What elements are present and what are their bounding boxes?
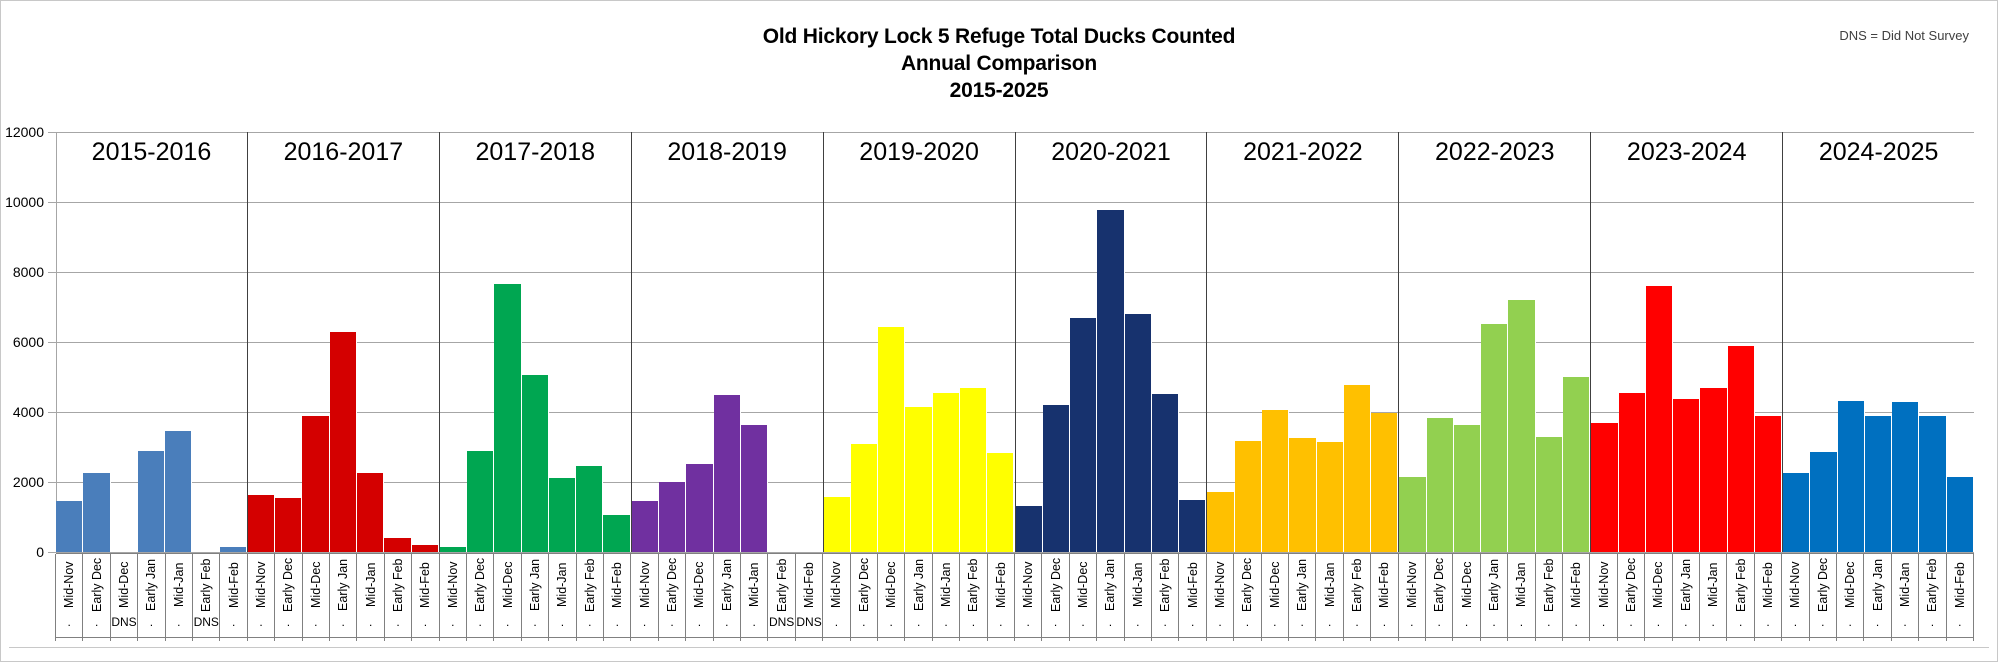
x-axis-period-label: Mid-Dec — [692, 557, 706, 613]
bar[interactable] — [1371, 413, 1398, 552]
bar-slot — [357, 132, 384, 552]
x-axis-category-cell: Mid-Jan. — [165, 554, 193, 641]
y-axis-tick — [48, 132, 56, 133]
bar[interactable] — [1646, 286, 1673, 552]
x-axis-season-group: Mid-Nov.Early Dec.Mid-DecDNSEarly Jan.Mi… — [56, 554, 248, 641]
y-axis-tick-label: 0 — [36, 544, 44, 560]
x-axis-category-cell: Mid-Dec. — [877, 554, 905, 641]
x-axis-survey-note: . — [823, 616, 849, 628]
bar-slot — [1646, 132, 1673, 552]
bar[interactable] — [522, 375, 549, 552]
season-bars — [1207, 132, 1398, 552]
x-axis-category-cell: Early Dec. — [1809, 554, 1837, 641]
bar[interactable] — [1399, 477, 1426, 552]
x-axis-period-label: Early Dec — [90, 557, 104, 613]
x-axis-survey-note: . — [714, 616, 740, 628]
x-axis-season-group: Mid-Nov.Early Dec.Mid-Dec.Early Jan.Mid-… — [631, 554, 823, 641]
bar[interactable] — [1865, 416, 1892, 553]
season-bars — [1399, 132, 1590, 552]
x-axis-season-group: Mid-Nov.Early Dec.Mid-Dec.Early Jan.Mid-… — [1782, 554, 1974, 641]
bar[interactable] — [1043, 405, 1070, 552]
bar-slot — [1427, 132, 1454, 552]
x-axis-survey-note: . — [494, 616, 520, 628]
x-axis-survey-note: . — [385, 616, 411, 628]
bar[interactable] — [1016, 506, 1043, 552]
x-axis-category-cell: Early Dec. — [1233, 554, 1261, 641]
bar[interactable] — [1289, 438, 1316, 552]
y-axis-tick — [48, 202, 56, 203]
bar[interactable] — [1481, 324, 1508, 552]
bar-slot — [1728, 132, 1755, 552]
bar-slot — [1673, 132, 1700, 552]
x-axis-category-cell: Mid-Nov. — [1589, 554, 1617, 641]
bar-slot — [905, 132, 932, 552]
bar[interactable] — [357, 473, 384, 552]
x-axis-season-group: Mid-Nov.Early Dec.Mid-Dec.Early Jan.Mid-… — [823, 554, 1015, 641]
x-axis-period-label: Mid-Feb — [1761, 557, 1775, 613]
x-axis-survey-note: . — [1590, 616, 1616, 628]
x-axis-period-label: Mid-Jan — [1131, 557, 1145, 613]
season-panel: 2024-2025 — [1783, 132, 1974, 552]
season-bars — [248, 132, 439, 552]
bar-slot — [1262, 132, 1289, 552]
x-axis-category-cell: Early Feb. — [1535, 554, 1563, 641]
x-axis-period-label: Early Dec — [1240, 557, 1254, 613]
x-axis-category-cell: Mid-Feb. — [1370, 554, 1398, 641]
bar[interactable] — [330, 332, 357, 553]
x-axis-survey-note: . — [1892, 616, 1918, 628]
bar-slot — [1454, 132, 1481, 552]
x-axis-survey-note: . — [851, 616, 877, 628]
bar[interactable] — [603, 515, 630, 552]
x-axis-category-cell: Mid-Dec. — [1069, 554, 1097, 641]
bar-slot — [659, 132, 686, 552]
bar[interactable] — [248, 495, 275, 552]
bar-slot — [1755, 132, 1782, 552]
x-axis-survey-note: . — [1015, 616, 1041, 628]
x-axis-period-label: Early Feb — [1734, 557, 1748, 613]
x-axis-survey-note: . — [1371, 616, 1397, 628]
x-axis-category-cell: Mid-Jan. — [1891, 554, 1919, 641]
x-axis-category-cell: Mid-Nov. — [1014, 554, 1042, 641]
x-axis-category-cell: Early Dec. — [274, 554, 302, 641]
bar[interactable] — [878, 327, 905, 552]
bar-slot — [1070, 132, 1097, 552]
x-axis-category-cell: Mid-Feb. — [1562, 554, 1590, 641]
bar[interactable] — [824, 497, 851, 552]
bar[interactable] — [1454, 425, 1481, 552]
bar-slot — [494, 132, 521, 552]
x-axis-survey-note: . — [1234, 616, 1260, 628]
bar[interactable] — [1919, 416, 1946, 552]
x-axis-category-cell: Mid-Nov. — [1781, 554, 1809, 641]
x-axis-category-cell: Mid-Jan. — [1507, 554, 1535, 641]
x-axis-period-label: Mid-Dec — [501, 557, 515, 613]
x-axis-period-label: Mid-Nov — [254, 557, 268, 613]
x-axis-period-label: Early Jan — [720, 557, 734, 613]
x-axis-category-cell: Early Dec. — [466, 554, 494, 641]
bar-slot — [1016, 132, 1043, 552]
x-axis-category-cell: Mid-FebDNS — [795, 554, 823, 641]
x-axis-survey-note: . — [1453, 616, 1479, 628]
x-axis-period-label: Early Jan — [1871, 557, 1885, 613]
bar-slot — [1371, 132, 1398, 552]
y-axis-tick — [48, 342, 56, 343]
x-axis-category-cell: Mid-Feb. — [411, 554, 439, 641]
season-bars — [1591, 132, 1782, 552]
x-axis-survey-note: . — [56, 616, 82, 628]
x-axis-category-cell: Early Jan. — [1096, 554, 1124, 641]
x-axis-period-label: Mid-Nov — [638, 557, 652, 613]
bar[interactable] — [56, 501, 83, 552]
bar-slot — [987, 132, 1014, 552]
bar[interactable] — [741, 425, 768, 552]
x-axis-period-label: Mid-Jan — [555, 557, 569, 613]
x-axis-category-cell: Early Feb. — [576, 554, 604, 641]
bar-slot — [878, 132, 905, 552]
x-axis-category-cell: Mid-Dec. — [685, 554, 713, 641]
bar[interactable] — [851, 444, 878, 552]
bar[interactable] — [1755, 416, 1782, 553]
bar-slot — [1947, 132, 1974, 552]
x-axis-survey-note: . — [1179, 616, 1205, 628]
x-axis-period-label: Mid-Feb — [994, 557, 1008, 613]
x-axis-category-cell: Early Feb. — [1918, 554, 1946, 641]
bar-slot — [302, 132, 329, 552]
x-axis-survey-note: . — [1508, 616, 1534, 628]
x-axis-category-cell: Early FebDNS — [192, 554, 220, 641]
bar[interactable] — [576, 466, 603, 552]
bar[interactable] — [302, 416, 329, 553]
x-axis-period-label: Mid-Jan — [1514, 557, 1528, 613]
bar[interactable] — [714, 395, 741, 553]
chart-container: Old Hickory Lock 5 Refuge Total Ducks Co… — [0, 0, 1998, 662]
x-axis-survey-note: DNS — [111, 616, 137, 628]
x-axis-category-cell: Mid-Jan. — [1699, 554, 1727, 641]
bar[interactable] — [1892, 402, 1919, 552]
x-axis-category-cell: Mid-Nov. — [1398, 554, 1426, 641]
x-axis-category-cell: Early Dec. — [1041, 554, 1069, 641]
bar-slot — [1207, 132, 1234, 552]
bar-slot — [960, 132, 987, 552]
x-axis-survey-note: . — [604, 616, 630, 628]
x-axis-survey-note: . — [220, 616, 246, 628]
x-axis-category-cell: Mid-Dec. — [302, 554, 330, 641]
bar-slot — [1865, 132, 1892, 552]
bar-slot — [1317, 132, 1344, 552]
x-axis-season-group: Mid-Nov.Early Dec.Mid-Dec.Early Jan.Mid-… — [248, 554, 440, 641]
x-axis-period-label: Mid-Jan — [1898, 557, 1912, 613]
x-axis-survey-note: . — [1782, 616, 1808, 628]
x-axis-survey-note: . — [1426, 616, 1452, 628]
bar-slot — [1399, 132, 1426, 552]
x-axis-category-cell: Mid-Feb. — [1178, 554, 1206, 641]
x-axis-category-cell: Mid-Dec. — [1644, 554, 1672, 641]
x-axis-category-cell: Mid-DecDNS — [110, 554, 138, 641]
bar[interactable] — [1838, 401, 1865, 552]
x-axis-survey-note: . — [1262, 616, 1288, 628]
bar[interactable] — [1097, 210, 1124, 552]
x-axis-category-cell: Mid-Jan. — [932, 554, 960, 641]
bar[interactable] — [1783, 473, 1810, 552]
x-axis-category-cell: Early FebDNS — [767, 554, 795, 641]
bar[interactable] — [1070, 318, 1097, 553]
bar[interactable] — [987, 453, 1014, 552]
x-axis-category-cell: Early Jan. — [713, 554, 741, 641]
x-axis-period-label: Early Jan — [528, 557, 542, 613]
bar-slot — [111, 132, 138, 552]
x-axis-period-label: Early Jan — [1679, 557, 1693, 613]
x-axis-survey-note: . — [1097, 616, 1123, 628]
bar[interactable] — [1152, 394, 1179, 552]
x-axis-survey-note: . — [1289, 616, 1315, 628]
x-axis-survey-note: . — [1042, 616, 1068, 628]
x-axis-category-cell: Mid-Feb. — [1946, 554, 1974, 641]
x-axis-category-cell: Early Feb. — [1726, 554, 1754, 641]
bar[interactable] — [1179, 500, 1206, 552]
x-axis-survey-note: . — [659, 616, 685, 628]
bar[interactable] — [1262, 410, 1289, 552]
x-axis-period-label: Early Dec — [1624, 557, 1638, 613]
x-axis-survey-note: . — [686, 616, 712, 628]
x-axis-survey-note: . — [166, 616, 192, 628]
bar[interactable] — [440, 547, 467, 552]
bar[interactable] — [412, 545, 439, 552]
x-axis-category-cell: Mid-Jan. — [548, 554, 576, 641]
dns-legend-note: DNS = Did Not Survey — [1839, 28, 1969, 43]
x-axis-survey-note: . — [1919, 616, 1945, 628]
x-axis-category-cell: Mid-Nov. — [822, 554, 850, 641]
x-axis-category-cell: Early Jan. — [137, 554, 165, 641]
x-axis-survey-note: . — [138, 616, 164, 628]
bar[interactable] — [1508, 300, 1535, 552]
bar[interactable] — [1125, 314, 1152, 552]
bar[interactable] — [1619, 393, 1646, 552]
x-axis-period-label: Early Feb — [391, 557, 405, 613]
x-axis-period-label: Mid-Feb — [802, 557, 816, 613]
bar-slot — [1097, 132, 1124, 552]
x-axis-category-cell: Mid-Dec. — [1261, 554, 1289, 641]
x-axis-period-label: Mid-Feb — [1377, 557, 1391, 613]
x-axis-period-label: Early Jan — [1103, 557, 1117, 613]
x-axis-period-label: Mid-Nov — [1021, 557, 1035, 613]
x-axis-period-label: Early Dec — [473, 557, 487, 613]
x-axis-period-label: Early Feb — [1542, 557, 1556, 613]
bar[interactable] — [549, 478, 576, 552]
bar[interactable] — [1700, 388, 1727, 552]
bar-slot — [1289, 132, 1316, 552]
x-axis-survey-note: . — [1837, 616, 1863, 628]
bar[interactable] — [1207, 492, 1234, 552]
bar[interactable] — [1536, 437, 1563, 553]
bar[interactable] — [686, 464, 713, 552]
x-axis-survey-note: . — [1563, 616, 1589, 628]
x-axis-survey-note: . — [905, 616, 931, 628]
y-axis-tick-label: 4000 — [13, 404, 44, 420]
x-axis-period-label: Early Jan — [1487, 557, 1501, 613]
bar-slot — [824, 132, 851, 552]
x-axis-category-cell: Mid-Jan. — [1124, 554, 1152, 641]
x-axis-survey-note: . — [577, 616, 603, 628]
bar-slot — [933, 132, 960, 552]
season-panel: 2019-2020 — [824, 132, 1016, 552]
x-axis-survey-note: . — [1810, 616, 1836, 628]
bar[interactable] — [960, 388, 987, 553]
x-axis-category-cell: Early Jan. — [1672, 554, 1700, 641]
x-axis-period-label: Early Jan — [144, 557, 158, 613]
x-axis-category-cell: Early Feb. — [959, 554, 987, 641]
bar[interactable] — [220, 547, 247, 552]
x-axis-period-label: Early Feb — [1158, 557, 1172, 613]
x-axis-category-cell: Mid-Dec. — [493, 554, 521, 641]
bar-slot — [1481, 132, 1508, 552]
bar-slot — [248, 132, 275, 552]
x-axis-survey-note: . — [1700, 616, 1726, 628]
x-axis-bottom-rule — [56, 637, 1974, 638]
x-axis-survey-note: . — [330, 616, 356, 628]
x-axis-category-cell: Early Jan. — [1288, 554, 1316, 641]
season-bars — [56, 132, 247, 552]
bar-slot — [768, 132, 795, 552]
x-axis-survey-note: . — [1673, 616, 1699, 628]
x-axis-category-cell: Mid-Feb. — [603, 554, 631, 641]
bar[interactable] — [138, 451, 165, 553]
season-panel: 2017-2018 — [440, 132, 632, 552]
x-axis-period-label: Early Dec — [281, 557, 295, 613]
y-axis-tick-label: 6000 — [13, 334, 44, 350]
x-axis-category-cell: Mid-Dec. — [1452, 554, 1480, 641]
x-axis-survey-note: . — [1481, 616, 1507, 628]
bar[interactable] — [1810, 452, 1837, 552]
x-axis-period-label: Mid-Dec — [117, 557, 131, 613]
bar-slot — [1619, 132, 1646, 552]
y-axis-tick — [48, 412, 56, 413]
bar[interactable] — [632, 501, 659, 552]
x-axis-period-label: Early Jan — [1295, 557, 1309, 613]
x-axis-period-label: Early Feb — [199, 557, 213, 613]
bar[interactable] — [933, 393, 960, 552]
x-axis-category-cell: Mid-Nov. — [247, 554, 275, 641]
x-axis-period-label: Mid-Nov — [829, 557, 843, 613]
frame-bottom-rule — [9, 647, 1989, 648]
bar-slot — [1838, 132, 1865, 552]
x-axis-season-group: Mid-Nov.Early Dec.Mid-Dec.Early Jan.Mid-… — [440, 554, 632, 641]
x-axis-survey-note: . — [988, 616, 1014, 628]
bar-slot — [467, 132, 494, 552]
bar-slot — [686, 132, 713, 552]
bar[interactable] — [1728, 346, 1755, 552]
bar[interactable] — [384, 538, 411, 552]
bar-slot — [138, 132, 165, 552]
bar-slot — [1152, 132, 1179, 552]
bar[interactable] — [1317, 442, 1344, 552]
x-axis-period-label: Early Feb — [1350, 557, 1364, 613]
bar-slot — [384, 132, 411, 552]
bar-slot — [165, 132, 192, 552]
x-axis-season-group: Mid-Nov.Early Dec.Mid-Dec.Early Jan.Mid-… — [1399, 554, 1591, 641]
bar[interactable] — [467, 451, 494, 552]
bar-slot — [1591, 132, 1618, 552]
season-bars — [1783, 132, 1974, 552]
season-bars — [632, 132, 823, 552]
x-axis-period-label: Early Dec — [1816, 557, 1830, 613]
bar[interactable] — [1563, 377, 1590, 552]
x-axis-category-cell: Mid-Nov. — [1206, 554, 1234, 641]
x-axis-survey-note: . — [1152, 616, 1178, 628]
bar[interactable] — [1947, 477, 1974, 552]
bar[interactable] — [1235, 441, 1262, 552]
bar[interactable] — [494, 284, 521, 552]
x-axis-survey-note: . — [275, 616, 301, 628]
x-axis-period-label: Early Jan — [336, 557, 350, 613]
x-axis-category-cell: Early Jan. — [521, 554, 549, 641]
bar-slot — [1043, 132, 1070, 552]
x-axis-period-label: Mid-Dec — [1460, 557, 1474, 613]
x-axis-category-cell: Mid-Feb. — [219, 554, 247, 641]
bar[interactable] — [659, 482, 686, 552]
chart-title-line-1: Old Hickory Lock 5 Refuge Total Ducks Co… — [1, 23, 1997, 50]
x-axis-period-label: Mid-Nov — [1405, 557, 1419, 613]
x-axis-period-label: Mid-Dec — [309, 557, 323, 613]
bar-slot — [851, 132, 878, 552]
bar[interactable] — [165, 431, 192, 552]
x-axis-category-cell: Mid-Feb. — [1754, 554, 1782, 641]
x-axis-period-label: Mid-Feb — [1186, 557, 1200, 613]
bar-slot — [1179, 132, 1206, 552]
y-axis-tick-label: 10000 — [5, 194, 44, 210]
x-axis-survey-note: . — [741, 616, 767, 628]
bar[interactable] — [275, 498, 302, 552]
season-panel: 2020-2021 — [1016, 132, 1208, 552]
x-axis-survey-note: . — [1864, 616, 1890, 628]
x-axis-period-label: Mid-Jan — [939, 557, 953, 613]
bar[interactable] — [1591, 423, 1618, 553]
x-axis-season-group: Mid-Nov.Early Dec.Mid-Dec.Early Jan.Mid-… — [1207, 554, 1399, 641]
season-panel: 2021-2022 — [1207, 132, 1399, 552]
x-axis-category-cell: Early Dec. — [82, 554, 110, 641]
season-panel: 2018-2019 — [632, 132, 824, 552]
bar-slot — [440, 132, 467, 552]
y-axis-tick-label: 12000 — [5, 124, 44, 140]
bar[interactable] — [905, 407, 932, 552]
x-axis-period-label: Early Feb — [775, 557, 789, 613]
bar-slot — [1563, 132, 1590, 552]
x-axis-period-label: Early Feb — [966, 557, 980, 613]
bar[interactable] — [1427, 418, 1454, 552]
bar[interactable] — [1344, 385, 1371, 552]
bar-slot — [632, 132, 659, 552]
chart-title-block: Old Hickory Lock 5 Refuge Total Ducks Co… — [1, 23, 1997, 104]
x-axis-period-label: Mid-Feb — [1569, 557, 1583, 613]
chart-title-line-3: 2015-2025 — [1, 77, 1997, 104]
x-axis-survey-note: . — [631, 616, 657, 628]
x-axis-survey-note: . — [878, 616, 904, 628]
y-axis-tick — [48, 552, 56, 553]
bar[interactable] — [83, 473, 110, 552]
x-axis-category-cell: Early Jan. — [1863, 554, 1891, 641]
bar[interactable] — [1673, 399, 1700, 552]
bar-slot — [330, 132, 357, 552]
y-axis-tick — [48, 272, 56, 273]
x-axis-category-cell: Mid-Jan. — [1315, 554, 1343, 641]
x-axis-survey-note: . — [1755, 616, 1781, 628]
x-axis-period-label: Mid-Feb — [1953, 557, 1967, 613]
bar-slot — [603, 132, 630, 552]
bar-slot — [795, 132, 822, 552]
x-axis-survey-note: . — [1645, 616, 1671, 628]
season-bars — [440, 132, 631, 552]
x-axis-category-cell: Mid-Jan. — [356, 554, 384, 641]
